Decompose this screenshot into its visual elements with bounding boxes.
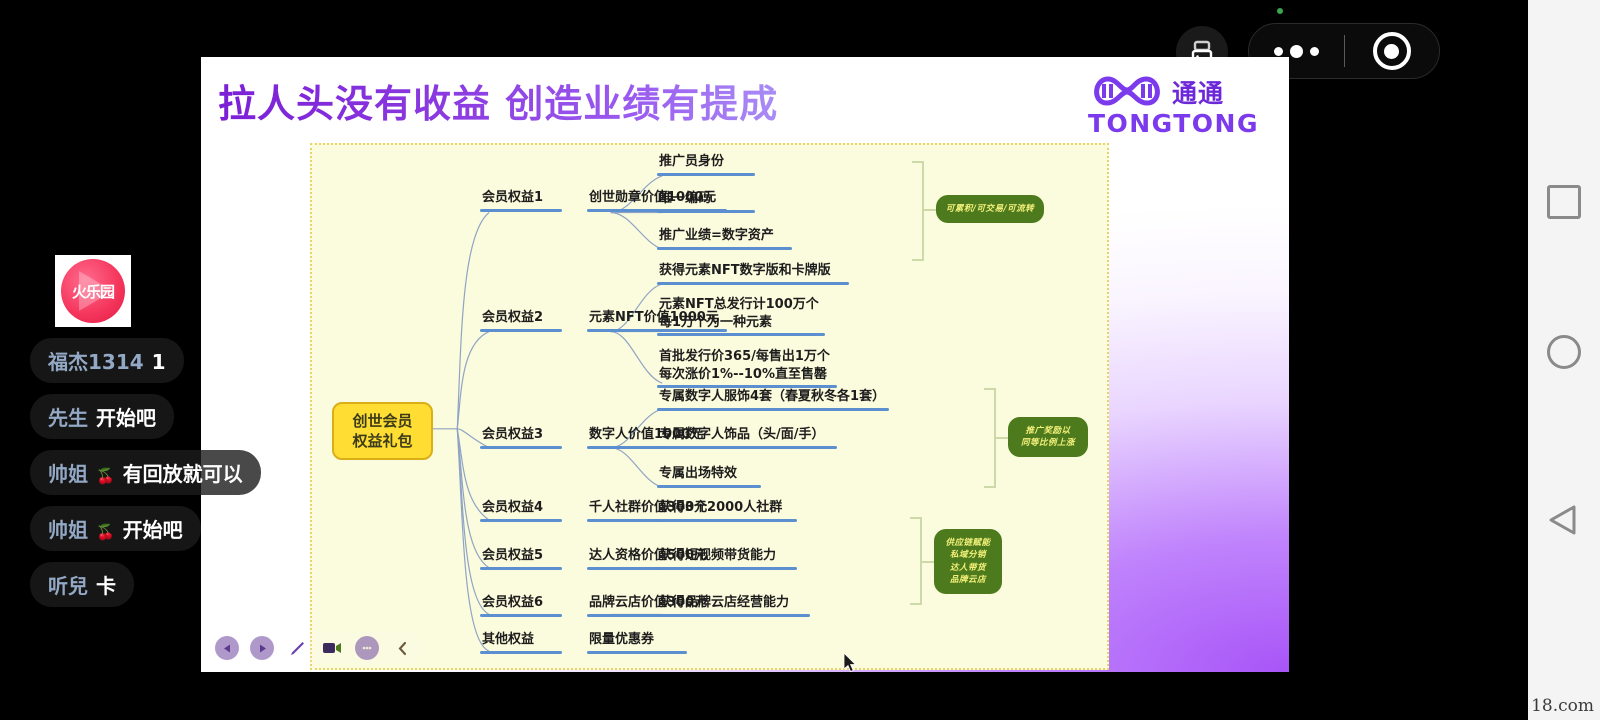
avatar-label: 火乐园 — [72, 281, 114, 302]
node-underline — [480, 651, 562, 654]
chat-message[interactable]: 先生 开始吧 — [30, 394, 174, 439]
bracket-tick-1 — [924, 209, 936, 211]
node-label: 获得短视频带货能力 — [657, 547, 797, 567]
pencil-icon[interactable] — [285, 636, 309, 660]
android-nav-rail — [1528, 0, 1600, 720]
node-level3-b1-2[interactable]: 唯一编码 — [657, 190, 755, 213]
node-label: 唯一编码 — [657, 190, 755, 210]
watermark-text: 18.com — [1531, 696, 1594, 716]
status-indicator-dot — [1277, 8, 1283, 14]
bracket-branch3 — [984, 388, 996, 488]
chat-text: 有回放就可以 — [123, 458, 243, 487]
node-label: 会员权益6 — [480, 594, 562, 614]
screen-root: 拉人头没有收益 创造业绩有提成 通通 TONGTONG — [0, 0, 1600, 720]
node-level1-4[interactable]: 会员权益4 — [480, 499, 562, 522]
chat-text: 1 — [152, 350, 166, 374]
node-level3-r4[interactable]: 获得3个2000人社群 — [657, 499, 797, 522]
capsule-menu-button[interactable] — [1249, 45, 1344, 58]
chevron-left-icon[interactable] — [390, 636, 414, 660]
triangle-left-icon[interactable] — [1547, 485, 1575, 519]
badge-branch5: 供应链赋能 私域分销 达人带货 品牌云店 — [934, 529, 1002, 594]
node-level3-b2-2[interactable]: 元素NFT总发行计100万个 每1万个为一种元素 — [657, 296, 825, 336]
slide-toolbar — [207, 632, 422, 664]
avatar[interactable]: 火乐园 — [55, 255, 131, 327]
play-left-icon[interactable] — [215, 636, 239, 660]
chat-text: 开始吧 — [96, 402, 156, 431]
chat-username: 帅姐 — [48, 458, 88, 487]
node-underline — [480, 567, 562, 570]
badge-line: 私域分销 — [950, 549, 986, 561]
node-label: 首批发行价365/每售出1万个 每次涨价1%--10%直至售罄 — [657, 348, 837, 385]
node-level3-b3-2[interactable]: 专属数字人饰品（头/面/手） — [657, 426, 837, 449]
chat-text: 卡 — [96, 570, 116, 599]
node-level3-b2-1[interactable]: 获得元素NFT数字版和卡牌版 — [657, 262, 849, 285]
node-underline — [657, 408, 889, 411]
chat-username: 听兒 — [48, 570, 88, 599]
node-level3-b1-1[interactable]: 推广员身份 — [657, 153, 755, 176]
node-level1-6[interactable]: 会员权益6 — [480, 594, 562, 617]
node-underline — [480, 614, 562, 617]
infinity-logo-icon — [1088, 73, 1166, 111]
node-underline — [657, 173, 755, 176]
bracket-tick-3 — [922, 561, 934, 563]
node-underline — [587, 651, 687, 654]
chat-message[interactable]: 听兒 卡 — [30, 562, 134, 607]
root-line-1: 创世会员 — [352, 411, 412, 431]
badge-branch3: 推广奖励以 同等比例上涨 — [1008, 417, 1088, 457]
play-right-icon[interactable] — [250, 636, 274, 660]
node-level3-b3-3[interactable]: 专属出场特效 — [657, 465, 761, 488]
node-label: 会员权益1 — [480, 189, 562, 209]
node-underline — [657, 567, 797, 570]
node-label: 会员权益5 — [480, 547, 562, 567]
node-label: 专属数字人服饰4套（春夏秋冬各1套） — [657, 388, 889, 408]
badge-line: 品牌云店 — [950, 574, 986, 586]
badge-line: 达人带货 — [950, 562, 986, 574]
brand-logo: 通通 TONGTONG — [1088, 73, 1259, 138]
node-underline — [657, 247, 792, 250]
node-label: 专属数字人饰品（头/面/手） — [657, 426, 837, 446]
mindmap-canvas: 创世会员 权益礼包 会员权益1 会员权益2 会员权益3 会员权益4 — [310, 143, 1109, 670]
mindmap-root-node[interactable]: 创世会员 权益礼包 — [332, 402, 433, 460]
chat-message-list: 福杰1314 1 先生 开始吧 帅姐 🍒 有回放就可以 帅姐 🍒 开始吧 听兒 … — [30, 338, 261, 618]
node-level1-1[interactable]: 会员权益1 — [480, 189, 562, 212]
node-underline — [480, 329, 562, 332]
chat-message[interactable]: 帅姐 🍒 开始吧 — [30, 506, 201, 551]
node-label: 会员权益4 — [480, 499, 562, 519]
bracket-tick-2 — [996, 437, 1008, 439]
badge-line: 可累积/可交易/可流转 — [946, 203, 1034, 215]
node-level3-b3-1[interactable]: 专属数字人服饰4套（春夏秋冬各1套） — [657, 388, 889, 411]
node-underline — [657, 446, 837, 449]
logo-english-text: TONGTONG — [1088, 109, 1259, 138]
chat-username: 福杰1314 — [48, 346, 144, 375]
chat-username: 先生 — [48, 402, 88, 431]
node-underline — [657, 333, 825, 336]
node-underline — [480, 519, 562, 522]
bracket-branch1 — [912, 161, 924, 261]
node-underline — [657, 210, 755, 213]
node-label: 获得元素NFT数字版和卡牌版 — [657, 262, 849, 282]
node-underline — [657, 614, 810, 617]
node-level3-b2-3[interactable]: 首批发行价365/每售出1万个 每次涨价1%--10%直至售罄 — [657, 348, 837, 388]
node-label: 其他权益 — [480, 631, 562, 651]
node-underline — [657, 519, 797, 522]
node-label: 推广员身份 — [657, 153, 755, 173]
node-label: 获得3个2000人社群 — [657, 499, 797, 519]
badge-branch1: 可累积/可交易/可流转 — [936, 195, 1044, 223]
node-underline — [480, 209, 562, 212]
presentation-slide: 拉人头没有收益 创造业绩有提成 通通 TONGTONG — [201, 57, 1289, 672]
cherry-emoji-icon: 🍒 — [96, 467, 115, 485]
node-label: 限量优惠券 — [587, 631, 687, 651]
node-label: 会员权益3 — [480, 426, 562, 446]
cherry-emoji-icon: 🍒 — [96, 523, 115, 541]
node-label: 获得品牌云店经营能力 — [657, 594, 810, 614]
chat-message[interactable]: 福杰1314 1 — [30, 338, 184, 383]
chat-text: 开始吧 — [123, 514, 183, 543]
mouse-cursor — [844, 653, 858, 672]
badge-line: 同等比例上涨 — [1021, 437, 1075, 449]
node-underline — [480, 446, 562, 449]
capsule-close-button[interactable] — [1345, 32, 1440, 70]
root-line-2: 权益礼包 — [352, 431, 412, 451]
node-label: 会员权益2 — [480, 309, 562, 329]
node-level1-7[interactable]: 其他权益 — [480, 631, 562, 654]
node-label: 元素NFT总发行计100万个 每1万个为一种元素 — [657, 296, 825, 333]
node-level1-2[interactable]: 会员权益2 — [480, 309, 562, 332]
bracket-branch5 — [910, 517, 922, 605]
node-level3-r6[interactable]: 获得品牌云店经营能力 — [657, 594, 810, 617]
node-label: 推广业绩=数字资产 — [657, 227, 792, 247]
page-title: 拉人头没有收益 创造业绩有提成 — [218, 73, 778, 128]
record-circle-icon — [1373, 32, 1411, 70]
node-level1-5[interactable]: 会员权益5 — [480, 547, 562, 570]
more-dots-icon[interactable] — [355, 636, 379, 660]
square-icon[interactable] — [1547, 185, 1581, 219]
node-level2-7[interactable]: 限量优惠券 — [587, 631, 687, 654]
video-camera-icon[interactable] — [320, 636, 344, 660]
node-underline — [657, 485, 761, 488]
node-level3-r5[interactable]: 获得短视频带货能力 — [657, 547, 797, 570]
chat-message[interactable]: 帅姐 🍒 有回放就可以 — [30, 450, 261, 495]
badge-line: 推广奖励以 — [1025, 425, 1070, 437]
node-label: 专属出场特效 — [657, 465, 761, 485]
chat-username: 帅姐 — [48, 514, 88, 543]
badge-line: 供应链赋能 — [945, 537, 990, 549]
circle-icon[interactable] — [1547, 335, 1581, 369]
logo-chinese-text: 通通 — [1172, 74, 1224, 110]
node-underline — [657, 282, 849, 285]
node-level1-3[interactable]: 会员权益3 — [480, 426, 562, 449]
node-level3-b1-3[interactable]: 推广业绩=数字资产 — [657, 227, 792, 250]
